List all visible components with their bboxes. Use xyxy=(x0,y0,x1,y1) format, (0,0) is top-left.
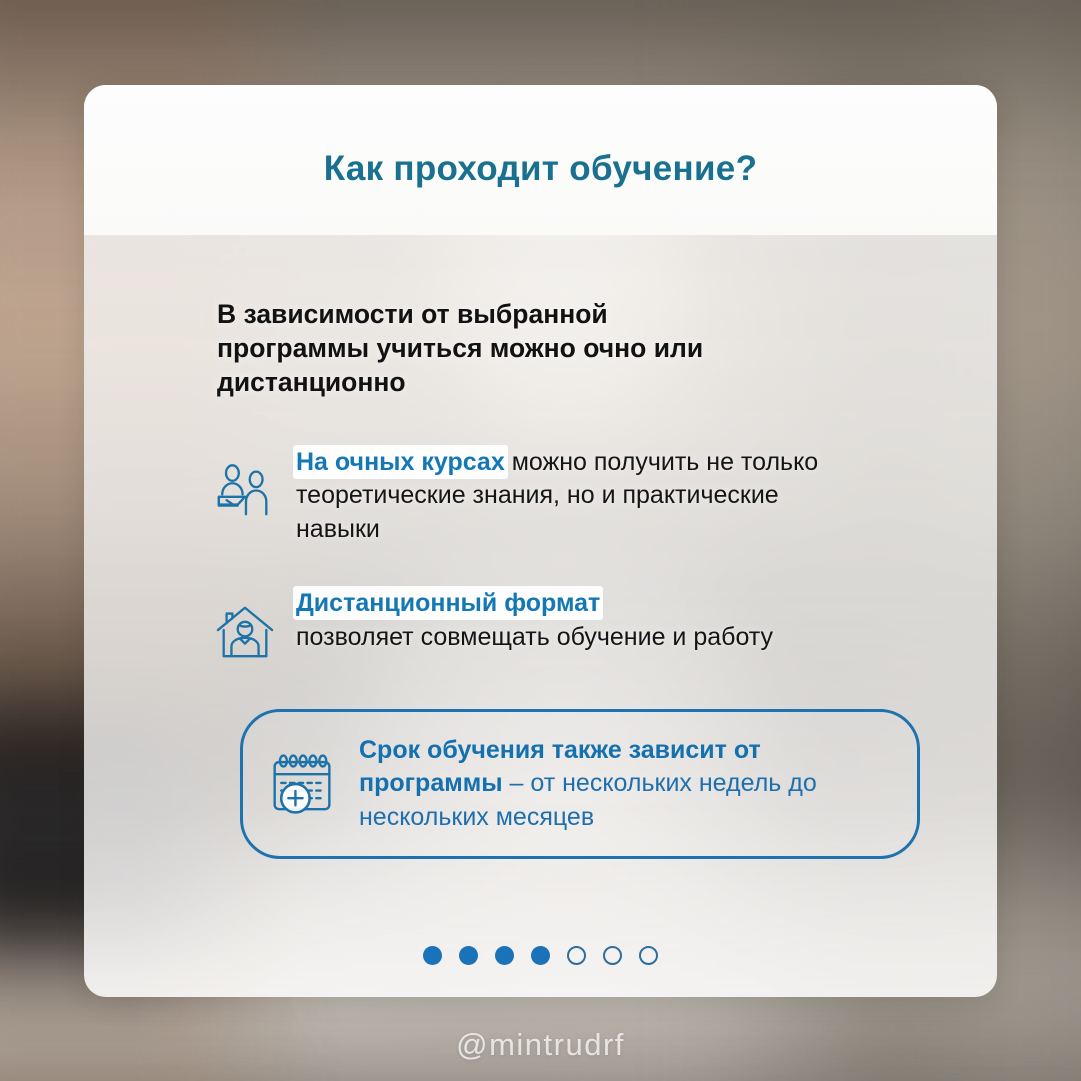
pagination-dot-1[interactable] xyxy=(423,946,442,965)
watermark-handle: @mintrudrf xyxy=(0,1027,1081,1063)
list-item-text: Дистанционный форматпозволяет совмещать … xyxy=(296,585,773,655)
infographic-slide: Как проходит обучение? В зависимости от … xyxy=(0,0,1081,1081)
list-item-text: На очных курсах можно получить не только… xyxy=(296,444,856,547)
duration-callout: Срок обучения также зависит от программы… xyxy=(240,709,920,860)
house-with-person-icon xyxy=(214,601,276,663)
duration-callout-text: Срок обучения также зависит от программы… xyxy=(359,734,891,835)
calendar-plus-icon xyxy=(267,749,337,819)
list-item-highlight: На очных курсах xyxy=(296,448,505,476)
list-item: На очных курсах можно получить не только… xyxy=(214,444,949,547)
content-card: Как проходит обучение? В зависимости от … xyxy=(84,85,997,997)
card-body: В зависимости от выбранной программы учи… xyxy=(84,235,997,997)
list-item-rest: позволяет совмещать обучение и работу xyxy=(296,623,773,651)
pagination-dot-3[interactable] xyxy=(495,946,514,965)
feature-list: На очных курсах можно получить не только… xyxy=(132,444,949,663)
list-item: Дистанционный форматпозволяет совмещать … xyxy=(214,585,949,663)
people-at-desk-icon xyxy=(214,460,276,522)
page-title: Как проходит обучение? xyxy=(324,149,758,189)
pagination-dot-5[interactable] xyxy=(567,946,586,965)
pagination-dot-2[interactable] xyxy=(459,946,478,965)
pagination-dot-4[interactable] xyxy=(531,946,550,965)
pagination-dots[interactable] xyxy=(84,946,997,965)
pagination-dot-6[interactable] xyxy=(603,946,622,965)
pagination-dot-7[interactable] xyxy=(639,946,658,965)
list-item-highlight: Дистанционный формат xyxy=(296,589,600,617)
lede-text: В зависимости от выбранной программы учи… xyxy=(217,297,737,400)
card-header: Как проходит обучение? xyxy=(84,85,997,235)
